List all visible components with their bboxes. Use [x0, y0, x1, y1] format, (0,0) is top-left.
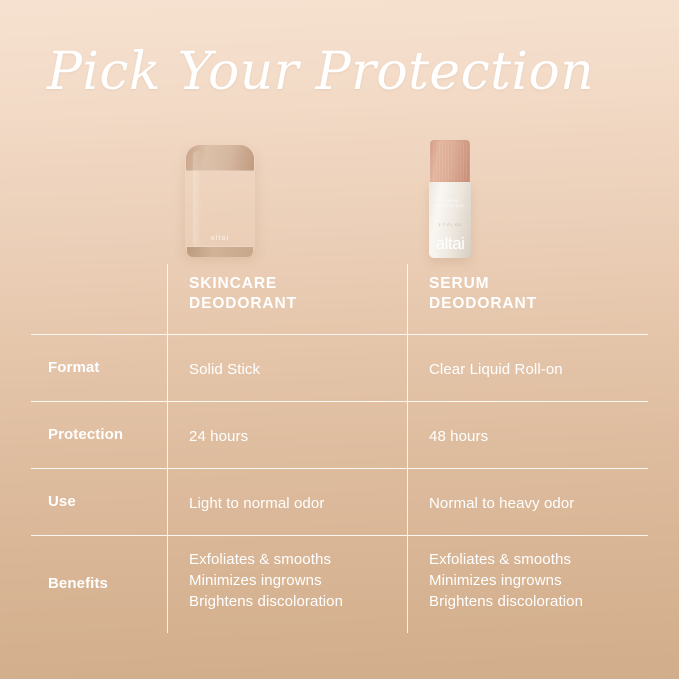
rollon-cap-ridges: [430, 142, 470, 180]
table-vertical-divider-1: [167, 264, 168, 633]
benefit-line: Minimizes ingrowns: [429, 570, 583, 591]
column-header-serum-line1: SERUM: [429, 274, 537, 294]
cell-format-skincare: Solid Stick: [189, 359, 260, 380]
benefit-line: Exfoliates & smooths: [429, 549, 583, 570]
stick-highlight: [193, 151, 202, 247]
column-header-skincare-line1: SKINCARE: [189, 274, 297, 294]
product-image-skincare-deodorant: altai: [185, 145, 255, 257]
column-header-skincare-line2: DEODORANT: [189, 294, 297, 314]
table-horizontal-divider-2: [31, 401, 648, 402]
stick-brand-label: altai: [185, 235, 255, 242]
rollon-brand-label: altai: [427, 234, 473, 254]
rollon-volume-text: 1.7 FL OZ: [429, 222, 471, 227]
cell-use-serum: Normal to heavy odor: [429, 493, 574, 514]
row-label-protection: Protection: [48, 426, 123, 443]
cell-protection-skincare: 24 hours: [189, 426, 248, 447]
cell-benefits-serum: Exfoliates & smooths Minimizes ingrowns …: [429, 549, 583, 612]
row-label-format: Format: [48, 359, 99, 376]
benefit-line: Brightens discoloration: [429, 591, 583, 612]
benefit-line: Minimizes ingrowns: [189, 570, 343, 591]
cell-use-skincare: Light to normal odor: [189, 493, 324, 514]
column-header-serum-line2: DEODORANT: [429, 294, 537, 314]
cell-benefits-skincare: Exfoliates & smooths Minimizes ingrowns …: [189, 549, 343, 612]
benefit-line: Exfoliates & smooths: [189, 549, 343, 570]
benefit-line: Brightens discoloration: [189, 591, 343, 612]
table-vertical-divider-2: [407, 264, 408, 633]
row-label-use: Use: [48, 493, 76, 510]
promo-comparison-graphic: Pick Your Protection altai SERUM DEODORA…: [0, 0, 679, 679]
rollon-product-text: SERUM DEODORANT: [429, 198, 471, 208]
row-label-benefits: Benefits: [48, 575, 108, 592]
column-header-serum: SERUM DEODORANT: [429, 274, 537, 314]
stick-base: [187, 247, 253, 257]
product-image-serum-deodorant: SERUM DEODORANT 1.7 FL OZ altai: [427, 140, 473, 258]
table-horizontal-divider-4: [31, 535, 648, 536]
cell-format-serum: Clear Liquid Roll-on: [429, 359, 563, 380]
table-horizontal-divider-3: [31, 468, 648, 469]
page-title: Pick Your Protection: [47, 40, 594, 104]
table-horizontal-divider-1: [31, 334, 648, 335]
column-header-skincare: SKINCARE DEODORANT: [189, 274, 297, 314]
cell-protection-serum: 48 hours: [429, 426, 488, 447]
comparison-table: SKINCARE DEODORANT SERUM DEODORANT Forma…: [31, 264, 648, 633]
